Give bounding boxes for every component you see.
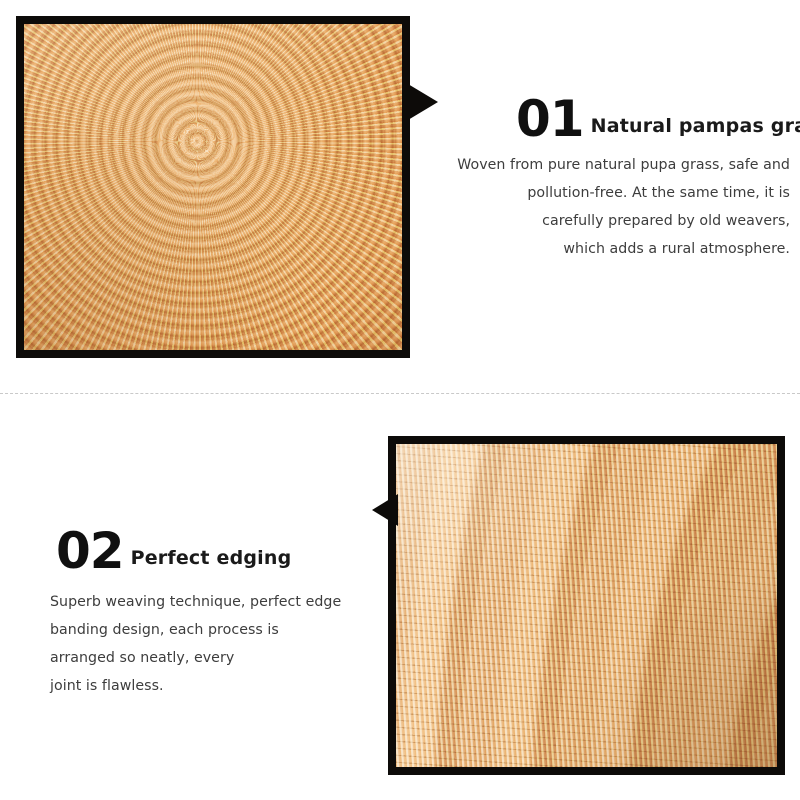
body-line: joint is flawless. (50, 672, 378, 700)
woven-spiral-texture (24, 24, 402, 350)
product-photo-02 (396, 444, 777, 767)
section-number-02: 02 (56, 528, 124, 574)
body-line: arranged so neatly, every (50, 644, 378, 672)
page-canvas: 01 Natural pampas grass Woven from pure … (0, 0, 800, 800)
product-photo-frame-01[interactable] (16, 16, 410, 358)
section-01-heading: 01 Natural pampas grass (440, 96, 790, 142)
section-number-01: 01 (516, 96, 584, 142)
body-line: which adds a rural atmosphere. (440, 235, 790, 263)
callout-arrow-left-icon (372, 494, 398, 526)
body-line: pollution-free. At the same time, it is (440, 179, 790, 207)
body-line: banding design, each process is (50, 616, 378, 644)
section-01-body: Woven from pure natural pupa grass, safe… (440, 151, 790, 263)
section-title-01: Natural pampas grass (584, 115, 800, 142)
section-02-body: Superb weaving technique, perfect edge b… (48, 588, 378, 700)
body-line: Woven from pure natural pupa grass, safe… (440, 151, 790, 179)
section-02-heading: 02 Perfect edging (48, 528, 378, 574)
section-01-text: 01 Natural pampas grass Woven from pure … (440, 96, 790, 263)
section-02-text: 02 Perfect edging Superb weaving techniq… (48, 528, 378, 700)
body-line: Superb weaving technique, perfect edge (50, 588, 378, 616)
callout-arrow-right-icon (408, 84, 438, 120)
section-divider (0, 393, 800, 394)
product-photo-frame-02[interactable] (388, 436, 785, 775)
product-photo-01 (24, 24, 402, 350)
body-line: carefully prepared by old weavers, (440, 207, 790, 235)
section-title-02: Perfect edging (124, 547, 292, 574)
woven-edging-texture (396, 444, 777, 767)
